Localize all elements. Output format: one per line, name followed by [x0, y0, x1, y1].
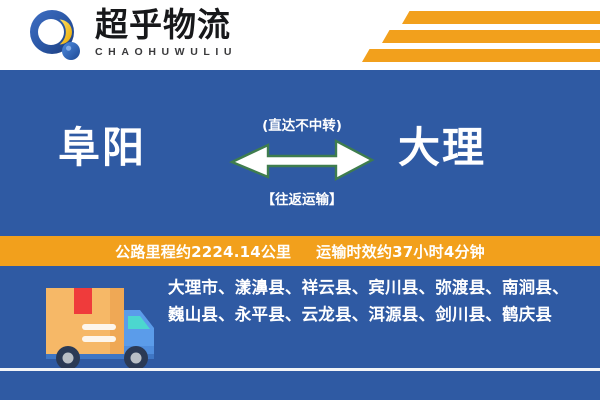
- route-panel: 阜阳 (直达不中转) 【往返运输】 大理: [0, 70, 600, 236]
- logistics-route-banner: 超乎物流 CHAOHUWULIU 阜阳 (直达不中转) 【往返运输】 大理: [0, 0, 600, 400]
- decorative-stripes: [350, 0, 600, 70]
- coverage-line-1: 大理市、漾濞县、祥云县、宾川县、弥渡县、南涧县、: [168, 274, 582, 301]
- coverage-city-list: 大理市、漾濞县、祥云县、宾川县、弥渡县、南涧县、 巍山县、永平县、云龙县、洱源县…: [168, 274, 582, 328]
- coverage-line-2: 巍山县、永平县、云龙县、洱源县、剑川县、鹤庆县: [168, 301, 582, 328]
- brand-wordmark: 超乎物流 CHAOHUWULIU: [95, 7, 295, 59]
- duration-label: 运输时效约37小时4分钟: [316, 243, 485, 261]
- destination-city: 大理: [398, 122, 486, 174]
- banner-header: 超乎物流 CHAOHUWULIU: [0, 0, 600, 70]
- route-info-text: 公路里程约2224.14公里 运输时效约37小时4分钟: [115, 241, 485, 262]
- stripe-3: [362, 49, 600, 62]
- delivery-truck-icon: [28, 274, 166, 374]
- route-info-bar: 公路里程约2224.14公里 运输时效约37小时4分钟: [0, 236, 600, 266]
- distance-label: 公路里程约2224.14公里: [115, 243, 291, 261]
- brand-name-en: CHAOHUWULIU: [95, 45, 295, 59]
- brand-name-cn: 超乎物流: [95, 7, 295, 43]
- round-trip-note: 【往返运输】: [228, 188, 376, 208]
- stripe-2: [382, 30, 600, 43]
- double-headed-arrow-icon: [228, 136, 376, 184]
- coverage-panel: 大理市、漾濞县、祥云县、宾川县、弥渡县、南涧县、 巍山县、永平县、云龙县、洱源县…: [0, 266, 600, 400]
- origin-city: 阜阳: [58, 122, 146, 174]
- stripe-1: [402, 11, 600, 24]
- route-row: 阜阳 (直达不中转) 【往返运输】 大理: [0, 70, 600, 236]
- bottom-divider: [0, 368, 600, 371]
- direct-route-note: (直达不中转): [228, 114, 376, 134]
- route-arrow-group: (直达不中转) 【往返运输】: [228, 114, 376, 208]
- circular-q-logo-icon: [28, 8, 84, 64]
